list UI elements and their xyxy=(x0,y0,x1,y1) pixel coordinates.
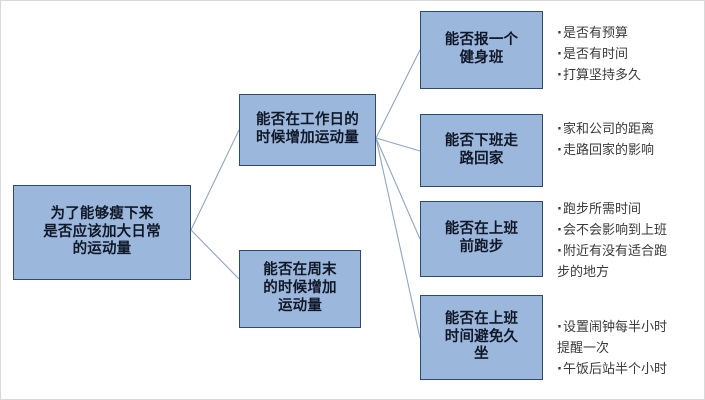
note-item: 是否有预算 xyxy=(557,23,705,44)
note-item: 会不会影响到上班 xyxy=(557,220,705,241)
node-gym-label: 能否报一个 健身班 xyxy=(441,32,523,67)
note-item: 午饭后站半个小时 xyxy=(557,359,705,380)
node-walk-label: 能否下班走 路回家 xyxy=(441,133,523,168)
note-item: 家和公司的距离 xyxy=(557,119,705,140)
connector-weekday-to-gym xyxy=(376,50,420,138)
connector-weekday-to-sit xyxy=(376,138,420,338)
node-weekday-label: 能否在工作日的 时候增加运动量 xyxy=(252,112,363,147)
node-sit[interactable]: 能否在上班 时间避免久 坐 xyxy=(420,295,543,380)
note-item: 附近有没有适合跑 步的地方 xyxy=(557,241,705,283)
node-root[interactable]: 为了能够瘦下来 是否应该加大日常 的运动量 xyxy=(13,185,191,280)
note-item: 打算坚持多久 xyxy=(557,65,705,86)
node-run-label: 能否在上班 前跑步 xyxy=(441,221,523,256)
node-weekday[interactable]: 能否在工作日的 时候增加运动量 xyxy=(239,94,376,166)
notes-run: 跑步所需时间 会不会影响到上班 附近有没有适合跑 步的地方 xyxy=(557,199,705,283)
notes-gym: 是否有预算 是否有时间 打算坚持多久 xyxy=(557,23,705,86)
connector-root-to-weekday xyxy=(191,130,239,230)
node-gym[interactable]: 能否报一个 健身班 xyxy=(420,11,543,89)
note-item: 是否有时间 xyxy=(557,44,705,65)
node-weekend[interactable]: 能否在周末 的时候增加 运动量 xyxy=(239,250,361,328)
node-run[interactable]: 能否在上班 前跑步 xyxy=(420,201,543,277)
note-item: 设置闹钟每半小时 提醒一次 xyxy=(557,317,705,359)
connector-weekday-to-walk xyxy=(376,138,420,151)
notes-walk: 家和公司的距离 走路回家的影响 xyxy=(557,119,705,161)
node-root-label: 为了能够瘦下来 是否应该加大日常 的运动量 xyxy=(39,206,165,259)
connector-weekday-to-run xyxy=(376,138,420,239)
node-sit-label: 能否在上班 时间避免久 坐 xyxy=(441,311,523,364)
node-walk[interactable]: 能否下班走 路回家 xyxy=(420,114,543,187)
note-item: 走路回家的影响 xyxy=(557,140,705,161)
note-item: 跑步所需时间 xyxy=(557,199,705,220)
notes-sit: 设置闹钟每半小时 提醒一次 午饭后站半个小时 xyxy=(557,317,705,380)
node-weekend-label: 能否在周末 的时候增加 运动量 xyxy=(259,262,341,315)
mindmap-canvas: 为了能够瘦下来 是否应该加大日常 的运动量 能否在工作日的 时候增加运动量 能否… xyxy=(0,0,705,400)
connector-root-to-weekend xyxy=(191,230,239,279)
